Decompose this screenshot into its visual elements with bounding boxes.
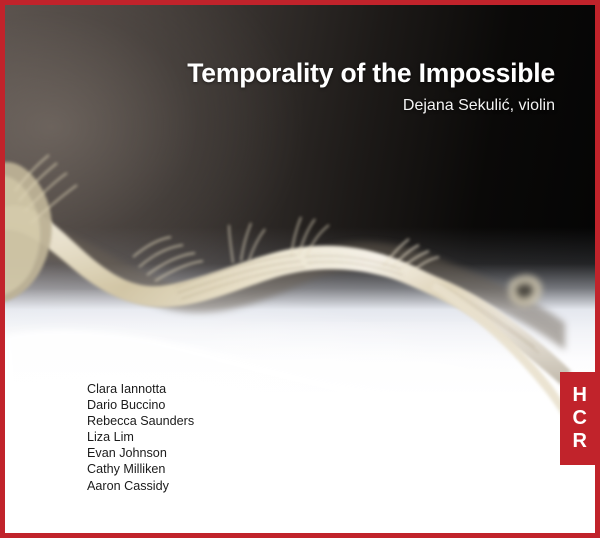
cover-artwork: Temporality of the Impossible Dejana Sek… [5, 5, 595, 533]
title-block: Temporality of the Impossible Dejana Sek… [187, 60, 555, 114]
label-letter-r: R [573, 430, 588, 453]
list-item: Dario Buccino [87, 397, 194, 413]
record-label-logo-hcr: H C R [560, 372, 600, 465]
photo-white-highlight-right [182, 322, 595, 533]
list-item: Clara Iannotta [87, 381, 194, 397]
list-item: Liza Lim [87, 429, 194, 445]
list-item: Rebecca Saunders [87, 413, 194, 429]
label-letter-c: C [573, 407, 588, 430]
composer-list: Clara Iannotta Dario Buccino Rebecca Sau… [87, 381, 194, 494]
list-item: Evan Johnson [87, 445, 194, 461]
label-letter-h: H [573, 384, 588, 407]
album-cover: Temporality of the Impossible Dejana Sek… [0, 0, 600, 538]
list-item: Cathy Milliken [87, 461, 194, 477]
album-subtitle-performer: Dejana Sekulić, violin [187, 97, 555, 115]
list-item: Aaron Cassidy [87, 478, 194, 494]
album-title: Temporality of the Impossible [187, 60, 555, 88]
